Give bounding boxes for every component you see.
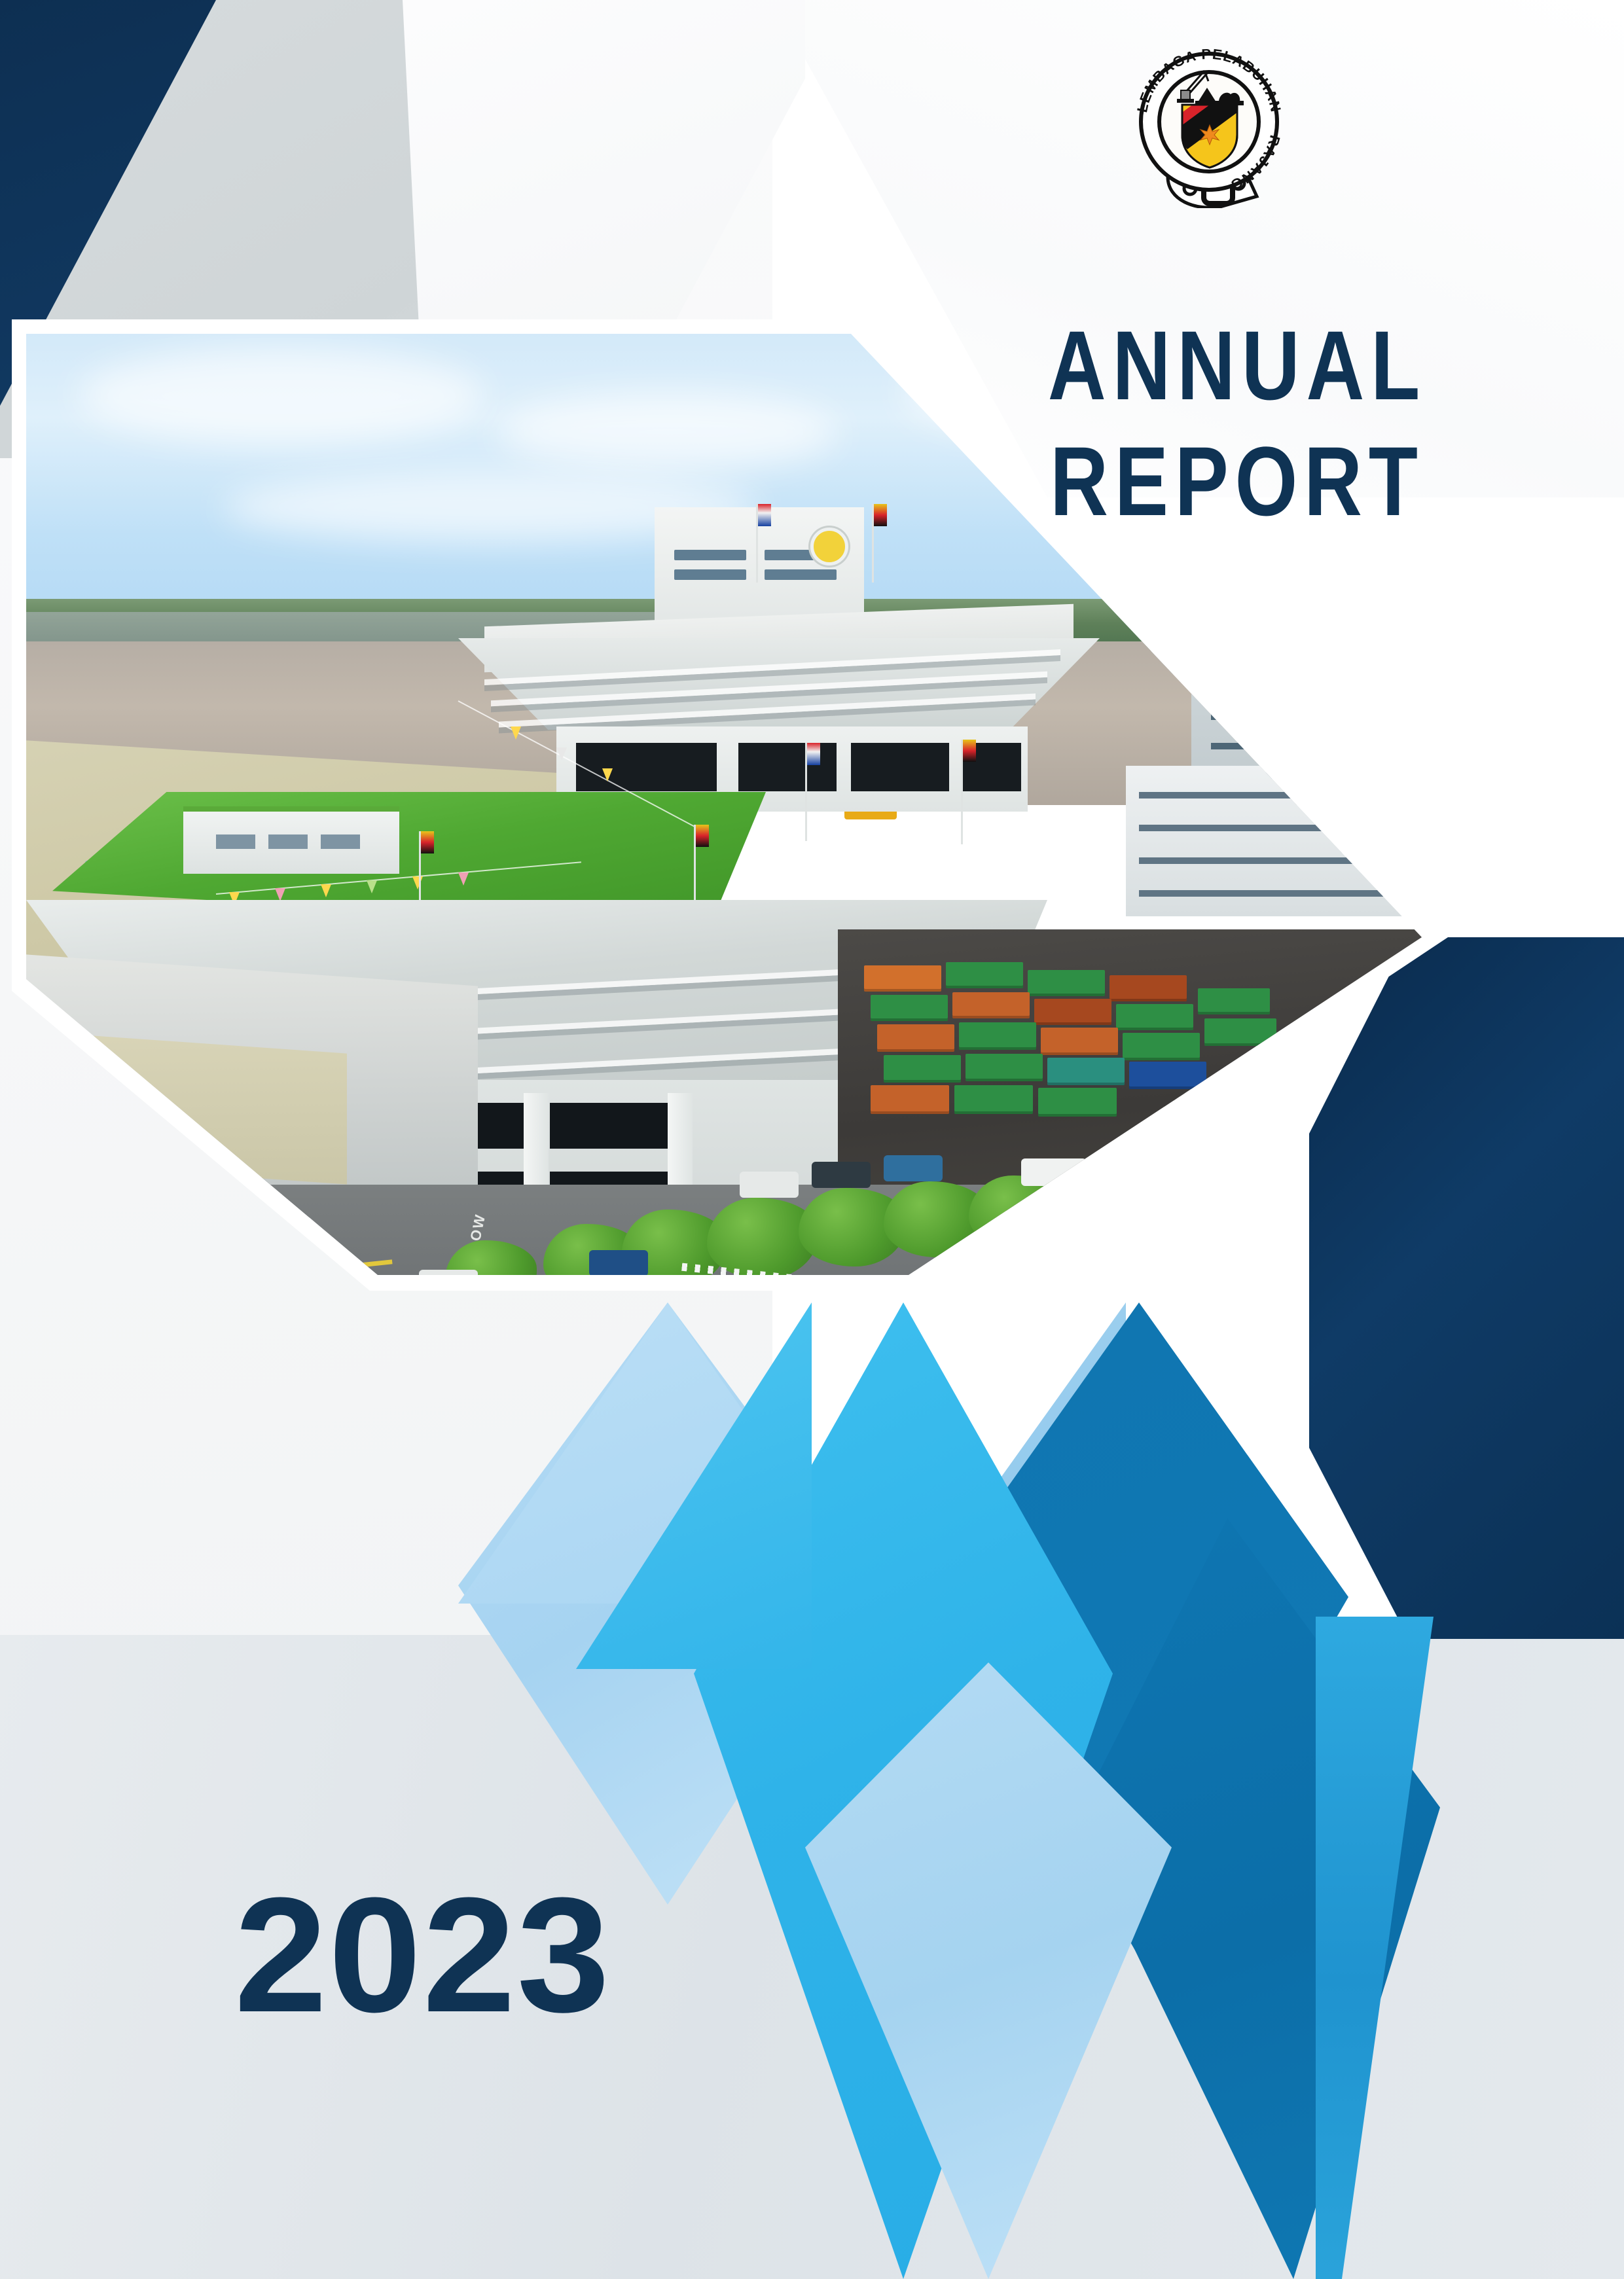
photo-vehicle bbox=[589, 1250, 648, 1276]
photo-sarawak-flag bbox=[696, 825, 709, 847]
photo-container bbox=[1047, 1058, 1125, 1085]
photo-sarawak-flag bbox=[963, 740, 976, 762]
photo-sarawak-flag bbox=[421, 831, 434, 853]
report-year: 2023 bbox=[234, 1873, 611, 2037]
photo-tower-window bbox=[765, 569, 837, 580]
title-line-annual: ANNUAL bbox=[964, 308, 1511, 423]
photo-container bbox=[1110, 975, 1187, 1001]
photo-container bbox=[877, 1024, 954, 1052]
photo-vehicle bbox=[812, 1162, 871, 1188]
photo-container bbox=[1129, 1062, 1206, 1089]
photo-hut-window bbox=[321, 834, 360, 849]
photo-container bbox=[1123, 1033, 1200, 1060]
photo-container bbox=[946, 962, 1023, 988]
photo-tower-window bbox=[674, 550, 746, 560]
photo-container bbox=[864, 965, 941, 992]
photo-hut-window bbox=[216, 834, 255, 849]
photo-bunting-pennant bbox=[367, 880, 377, 893]
photo-malaysia-flag bbox=[807, 743, 820, 765]
photo-facade-opening bbox=[550, 1103, 668, 1149]
photo-malaysia-flag bbox=[758, 504, 771, 526]
photo-hut-window bbox=[268, 834, 308, 849]
photo-tower-window bbox=[674, 569, 746, 580]
photo-vehicle bbox=[884, 1155, 943, 1181]
lembaga-pelabuhan-rajang-seal-icon: LEMBAGA PELABUHAN RAJANG bbox=[1127, 25, 1291, 208]
photo-cloud bbox=[79, 347, 484, 445]
photo-container bbox=[954, 1085, 1033, 1114]
photo-container bbox=[1034, 999, 1111, 1025]
photo-building-window bbox=[1139, 890, 1394, 897]
photo-bunting-pennant bbox=[458, 872, 469, 886]
photo-bunting-pennant bbox=[602, 768, 613, 781]
photo-bunting-pennant bbox=[412, 876, 423, 889]
title-line-report: REPORT bbox=[964, 423, 1511, 539]
page-title: ANNUAL REPORT bbox=[903, 308, 1571, 539]
photo-hq-window bbox=[738, 743, 837, 791]
photo-container bbox=[1041, 1028, 1118, 1055]
photo-container bbox=[965, 1054, 1043, 1081]
photo-container bbox=[871, 1085, 949, 1114]
photo-container bbox=[1038, 1088, 1117, 1117]
photo-container bbox=[871, 995, 948, 1021]
photo-sarawak-flag bbox=[874, 504, 887, 526]
photo-bunting-pennant bbox=[556, 747, 567, 761]
photo-hq-window bbox=[851, 743, 949, 791]
photo-bunting-pennant bbox=[275, 888, 285, 901]
photo-container bbox=[884, 1055, 961, 1083]
photo-container bbox=[1198, 988, 1270, 1014]
photo-container bbox=[1116, 1004, 1193, 1030]
annual-report-cover-page: LEMBAGA PELABUHAN RAJANG bbox=[0, 0, 1624, 2279]
decor-navy-hexagon-right bbox=[1309, 937, 1624, 1639]
photo-building-crest bbox=[810, 528, 848, 565]
photo-vehicle bbox=[740, 1172, 799, 1198]
photo-bunting-pennant bbox=[321, 884, 331, 897]
photo-bunting-pennant bbox=[511, 727, 521, 740]
photo-container bbox=[959, 1022, 1036, 1050]
photo-container bbox=[952, 992, 1030, 1018]
photo-hq-window bbox=[576, 743, 717, 791]
photo-container bbox=[1028, 970, 1105, 996]
photo-cloud bbox=[497, 393, 838, 471]
organization-logo: LEMBAGA PELABUHAN RAJANG bbox=[1127, 25, 1291, 208]
